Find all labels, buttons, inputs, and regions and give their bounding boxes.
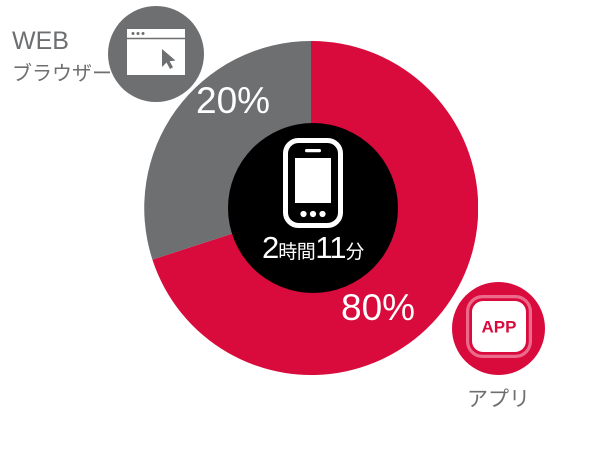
- time-hours-unit: 時間: [278, 243, 315, 262]
- app-percent-label: 80%: [341, 289, 415, 326]
- donut-center-hub: 2 時間 11 分: [228, 123, 398, 293]
- infographic-canvas: 20% 80% 2 時間 11 分: [0, 0, 600, 450]
- web-percent-label: 20%: [196, 82, 270, 119]
- time-hours-value: 2: [262, 232, 278, 263]
- web-browser-badge[interactable]: [108, 6, 204, 102]
- app-tile-text: APP: [481, 317, 516, 336]
- app-tile-icon: APP: [466, 295, 532, 363]
- app-legend: アプリ: [452, 383, 545, 413]
- web-browser-legend: WEB ブラウザー: [12, 24, 112, 88]
- app-badge[interactable]: APP: [452, 282, 545, 375]
- browser-window-icon: [125, 27, 187, 82]
- time-minutes-unit: 分: [345, 243, 364, 262]
- web-legend-line1: WEB: [12, 24, 112, 60]
- web-legend-line2: ブラウザー: [12, 60, 112, 88]
- time-minutes-value: 11: [315, 232, 345, 263]
- smartphone-icon: [282, 137, 344, 229]
- usage-time-readout: 2 時間 11 分: [262, 232, 364, 263]
